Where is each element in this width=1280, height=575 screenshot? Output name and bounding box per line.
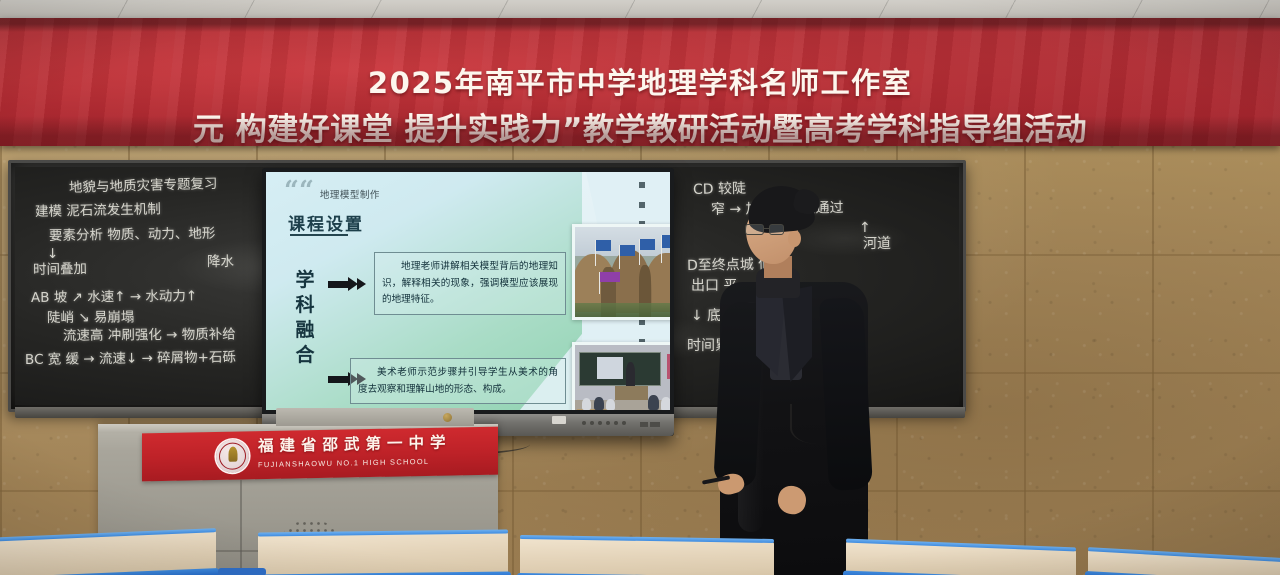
school-name-chinese: 福建省邵武第一中学 bbox=[258, 433, 452, 455]
model-label-flag bbox=[661, 235, 670, 263]
slide-vertical-char: 学 bbox=[292, 268, 318, 293]
classroom-photo-scene: 2025年南平市中学地理学科名师工作室 元 构建好课堂 提升实践力”教学教研活动… bbox=[0, 0, 1280, 575]
screen-button[interactable] bbox=[582, 421, 586, 425]
screen-button[interactable] bbox=[590, 421, 594, 425]
screen-button-row[interactable] bbox=[582, 421, 626, 425]
student-desk bbox=[258, 532, 508, 575]
school-name-group: 福建省邵武第一中学 FUJIANSHAOWU NO.1 HIGH SCHOOL bbox=[258, 435, 498, 472]
wall-cable bbox=[790, 404, 858, 444]
eyeglasses-icon bbox=[745, 224, 795, 235]
arrow-right-icon bbox=[328, 277, 368, 291]
interactive-flat-panel[interactable]: ““ 地理模型制作 课程设置 学 科 融 合 bbox=[262, 168, 674, 436]
student-desk bbox=[520, 538, 774, 575]
slide-dot bbox=[639, 202, 645, 208]
screen-button[interactable] bbox=[622, 421, 626, 425]
chalk-annotation-left-rain: 降水 bbox=[207, 255, 234, 269]
screen-button[interactable] bbox=[598, 421, 602, 425]
model-label-flag bbox=[619, 245, 634, 269]
banner-title-line-1: 2025年南平市中学地理学科名师工作室 bbox=[0, 60, 1280, 102]
slide-vertical-char: 融 bbox=[292, 318, 318, 343]
slide-photo-terrain-model bbox=[572, 224, 670, 320]
chalk-line-left-8: 流速高 冲刷强化 → 物质补给 bbox=[63, 327, 236, 343]
chalk-line-left-3: 要素分析 物质、动力、地形 bbox=[49, 227, 215, 243]
banner-title-line-2: 元 构建好课堂 提升实践力”教学教研活动暨高考学科指导组活动 bbox=[0, 104, 1280, 149]
terrain-model-illustration bbox=[575, 227, 670, 317]
slide-vertical-char: 合 bbox=[292, 343, 318, 368]
slide-textbox-art: 美术老师示范步骤并引导学生从美术的角度去观察和理解山地的形态、构成。 bbox=[350, 358, 566, 404]
school-crest-icon bbox=[216, 439, 249, 473]
school-name-banner: 福建省邵武第一中学 FUJIANSHAOWU NO.1 HIGH SCHOOL bbox=[142, 427, 498, 482]
school-name-english: FUJIANSHAOWU NO.1 HIGH SCHOOL bbox=[258, 457, 429, 469]
chalk-line-left-7: 陡峭 ↘ 易崩塌 bbox=[47, 310, 135, 325]
screen-side-logo bbox=[640, 422, 660, 427]
chalk-line-left-6: AB 坡 ↗ 水速↑ → 水动力↑ bbox=[31, 289, 197, 305]
slide-kicker-group: ““ 地理模型制作 bbox=[284, 182, 380, 202]
screen-bezel: ““ 地理模型制作 课程设置 学 科 融 合 bbox=[262, 168, 674, 414]
student-desk bbox=[846, 542, 1076, 575]
chalk-line-left-4: ↓ bbox=[47, 247, 58, 261]
chalk-line-left-2: 建模 泥石流发生机制 bbox=[35, 202, 161, 219]
slide-dot bbox=[639, 319, 645, 325]
student-desk bbox=[0, 531, 216, 575]
ceiling-tiles bbox=[0, 0, 1280, 20]
event-banner: 2025年南平市中学地理学科名师工作室 元 构建好课堂 提升实践力”教学教研活动… bbox=[0, 18, 1280, 146]
screen-button[interactable] bbox=[614, 421, 618, 425]
chalk-line-left-1: 地貌与地质灾害专题复习 bbox=[69, 177, 218, 195]
quote-mark-icon: ““ bbox=[284, 182, 314, 202]
model-label-flag bbox=[639, 239, 654, 265]
chalk-line-left-5: 时间叠加 bbox=[33, 262, 87, 277]
model-label-flag bbox=[595, 240, 610, 266]
slide-textbox-geography: 地理老师讲解相关模型背后的地理知识，解释相关的现象，强调模型应该展现的地理特征。 bbox=[374, 252, 566, 315]
presenting-teacher bbox=[712, 186, 882, 575]
chalk-line-left-9: BC 宽 缓 → 流速↓ → 碎屑物+石砾 bbox=[25, 350, 236, 367]
screen-button[interactable] bbox=[606, 421, 610, 425]
podium-upper-desk bbox=[276, 408, 474, 426]
podium-panel-seam bbox=[240, 480, 242, 575]
presentation-slide: ““ 地理模型制作 课程设置 学 科 融 合 bbox=[266, 172, 670, 410]
ir-receiver-icon bbox=[552, 416, 566, 424]
slide-vertical-label: 学 科 融 合 bbox=[292, 268, 318, 368]
screen-display-area[interactable]: ““ 地理模型制作 课程设置 学 科 融 合 bbox=[266, 172, 670, 410]
slide-dot bbox=[639, 182, 645, 188]
slide-photo-classroom bbox=[572, 342, 670, 410]
slide-vertical-char: 科 bbox=[292, 293, 318, 318]
model-label-flag bbox=[599, 272, 619, 294]
slide-heading-underline bbox=[290, 234, 348, 236]
student-chair bbox=[218, 568, 266, 575]
classroom-illustration bbox=[575, 345, 670, 410]
slide-heading: 课程设置 bbox=[288, 210, 364, 235]
slide-kicker-text: 地理模型制作 bbox=[320, 187, 380, 201]
